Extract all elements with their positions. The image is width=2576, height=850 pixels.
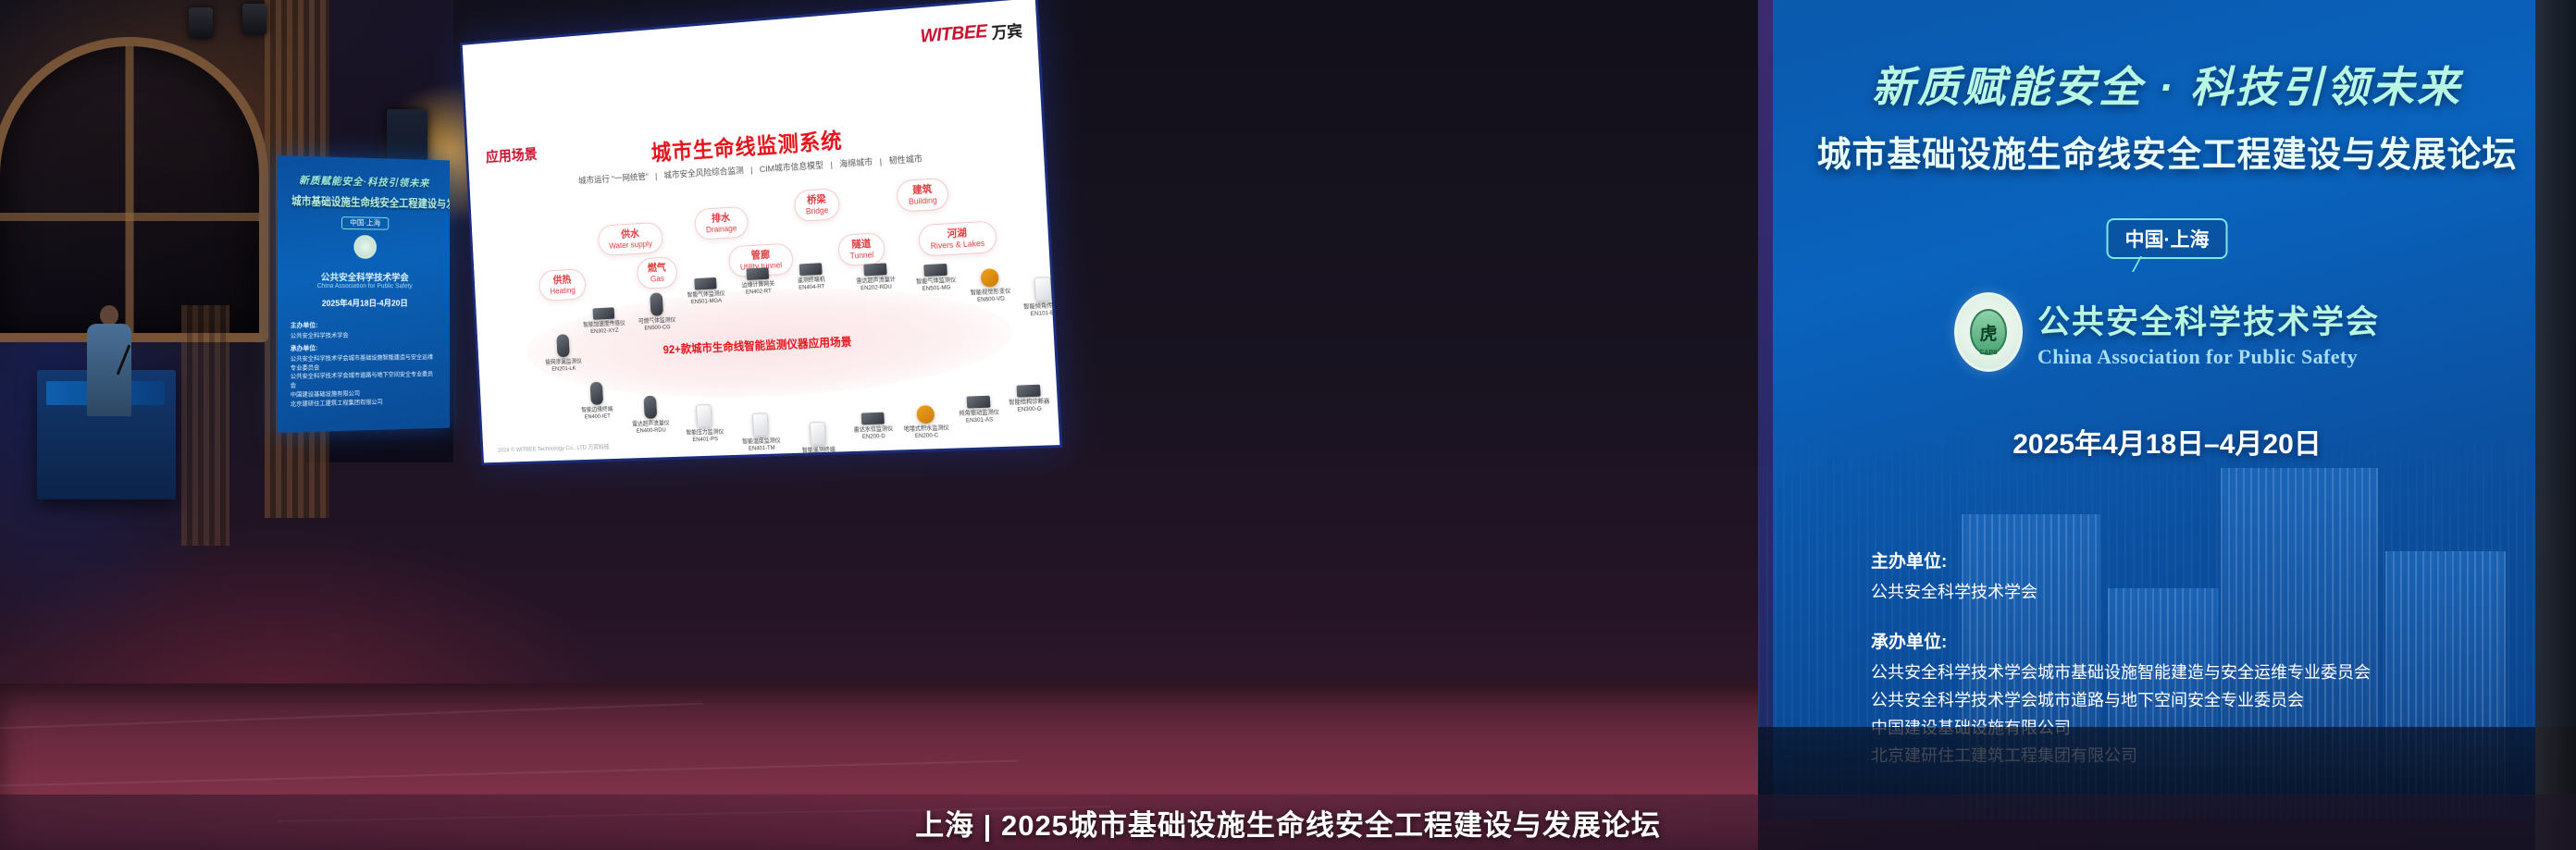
device-icon [1034, 277, 1052, 302]
banner-association-text: 公共安全科学技术学会 China Association for Public … [2037, 296, 2380, 369]
left-banner-host-item: 公共安全科学技术学会 [291, 330, 438, 340]
presenter-body [87, 324, 131, 416]
banner-organizer-label: 承办单位: [1871, 628, 2371, 653]
device-icon [592, 307, 614, 319]
right-led-banner: 新质赋能安全 · 科技引领未来 城市基础设施生命线安全工程建设与发展论坛 中国·… [1758, 0, 2576, 819]
device-icon [746, 267, 769, 280]
device-icon [694, 277, 716, 290]
wall-drape-secondary [181, 305, 229, 546]
banner-organizer-item: 公共安全科学技术学会城市道路与地下空间安全专业委员会 [1871, 688, 2371, 714]
subtitle-part: 城市安全风险综合监测 [663, 166, 744, 180]
banner-date: 2025年4月18日–4月20日 [1758, 421, 2576, 462]
slide-copyright: 2024 © WITBEE Technology Co., LTD 万宾科技 [498, 441, 610, 453]
left-banner-association-en: China Association for Public Safety [285, 283, 443, 289]
caption-bar: 上海 | 2025城市基础设施生命线安全工程建设与发展论坛 [0, 795, 2576, 850]
device-item: 遥测终端机EN404-RT [777, 262, 846, 293]
left-banner-location-chip: 中国·上海 [341, 216, 389, 230]
subtitle-separator: | [830, 160, 833, 170]
category-bubble: 排水Drainage [694, 206, 749, 240]
banner-title: 城市基础设施生命线安全工程建设与发展论坛 [1770, 126, 2563, 177]
seal-inner-glyph: 虎 [1970, 309, 2007, 355]
category-bubble: 桥梁Bridge [794, 188, 840, 222]
category-bubble-cn: 桥梁 [805, 194, 828, 207]
truss-light [189, 7, 213, 39]
banner-location-chip: 中国·上海 [2107, 218, 2228, 259]
device-item: 智能倾角传感器EN101-BS [1007, 276, 1059, 320]
device-icon [589, 382, 603, 405]
banner-organizer-item: 公共安全科学技术学会城市基础设施智能建造与安全运维专业委员会 [1871, 660, 2371, 686]
device-code: EN301-AS [945, 416, 1015, 426]
device-icon [810, 422, 826, 446]
subtitle-separator: | [750, 166, 753, 176]
category-bubble-cn: 燃气 [648, 263, 666, 275]
right-wall [2535, 0, 2576, 850]
banner-host-item: 公共安全科学技术学会 [1871, 580, 2371, 606]
device-icon [799, 263, 823, 276]
witbee-logo-cn: 万宾 [991, 18, 1023, 43]
category-bubble: 燃气Gas [637, 256, 678, 289]
device-item: 智能结构监测仪EN303-HS [1043, 371, 1059, 402]
slide-content: WITBEE 万宾 应用场景 城市生命线监测系统 城市运行 “一网统管”|城市安… [463, 0, 1060, 462]
device-icon [752, 413, 769, 437]
subtitle-part: 城市运行 “一网统管” [578, 172, 649, 186]
device-name: 智能结构监测仪 [1044, 385, 1059, 395]
screen-frame: WITBEE 万宾 应用场景 城市生命线监测系统 城市运行 “一网统管”|城市安… [460, 0, 1063, 465]
subtitle-part: CIM城市信息模型 [760, 161, 824, 175]
projection-screen: WITBEE 万宾 应用场景 城市生命线监测系统 城市运行 “一网统管”|城市安… [460, 0, 1063, 465]
left-banner-association-cn: 公共安全科学技术学会 [285, 269, 443, 283]
arched-window [0, 37, 268, 342]
left-banner-organizers: 主办单位: 公共安全科学技术学会 承办单位: 公共安全科学技术学会城市基础设施智… [285, 321, 443, 409]
device-item: 管网渗漏监测仪EN201-LK [530, 333, 596, 375]
category-bubble-en: Bridge [806, 205, 829, 216]
presenter-head [100, 305, 118, 326]
seal-abbr: CAPS [1957, 350, 2020, 356]
device-icon [861, 413, 885, 425]
subtitle-part: 韧性城市 [888, 154, 923, 166]
left-banner-date: 2025年4月18日-4月20日 [285, 297, 443, 309]
device-icon [696, 404, 712, 428]
category-bubble-en: Water supply [609, 239, 652, 250]
category-bubble: 河湖Rivers & Lakes [918, 220, 997, 256]
witbee-logo-en: WITBEE [920, 21, 987, 47]
device-code: EN200-C [892, 432, 961, 441]
device-icon [916, 405, 935, 424]
device-icon [650, 292, 663, 315]
category-bubble-en: Rivers & Lakes [930, 239, 985, 251]
subtitle-separator: | [879, 157, 882, 167]
witbee-logo: WITBEE 万宾 [920, 18, 1023, 48]
banner-host-label: 主办单位: [1871, 548, 2371, 573]
device-icon [923, 264, 947, 277]
category-bubble-en: Gas [648, 274, 666, 284]
caption-text: 上海 | 2025城市基础设施生命线安全工程建设与发展论坛 [915, 802, 1661, 844]
category-bubble: 供水Water supply [598, 222, 664, 256]
category-bubble-en: Drainage [706, 223, 737, 234]
presenter-person [85, 305, 133, 416]
device-icon [1016, 385, 1040, 398]
device-name: 智能遥测终端 [785, 446, 852, 455]
subtitle-separator: | [655, 172, 658, 182]
subtitle-part: 海绵城市 [839, 157, 873, 169]
device-icon [863, 263, 886, 276]
device-icon [967, 396, 991, 409]
banner-association-en: China Association for Public Safety [2037, 345, 2380, 369]
left-banner-title: 城市基础设施生命线安全工程建设与发展论坛 [291, 192, 437, 211]
category-bubble-cn: 供热 [550, 275, 576, 287]
device-icon [556, 334, 569, 357]
category-bubble: 供热Heating [539, 268, 587, 302]
banner-calligraphy: 新质赋能安全 · 科技引领未来 [1758, 54, 2576, 115]
left-led-banner: 新质赋能安全·科技引领未来 城市基础设施生命线安全工程建设与发展论坛 中国·上海… [278, 155, 450, 433]
banner-association-cn: 公共安全科学技术学会 [2037, 296, 2380, 343]
truss-light [242, 4, 266, 35]
category-bubble: 隧道Tunnel [837, 232, 885, 266]
device-icon [980, 268, 999, 288]
device-code: EN300-G [994, 405, 1059, 415]
conference-photo-screenshot: 中国·上海 新质赋能安全·科技引领未来 城市基础设施生命线安全工程建设与发展论坛… [0, 0, 2576, 850]
category-bubble: 建筑Building [896, 178, 948, 213]
left-banner-calligraphy: 新质赋能安全·科技引领未来 [285, 172, 443, 191]
banner-association: 虎 CAPS 公共安全科学技术学会 China Association for … [1758, 292, 2576, 372]
category-bubble-en: Building [909, 195, 937, 206]
caps-seal-icon: 虎 CAPS [1954, 292, 2023, 372]
device-icon [643, 396, 657, 419]
category-bubble-en: Tunnel [849, 250, 873, 260]
category-bubble-cn: 隧道 [849, 239, 873, 252]
category-bubble-en: Heating [550, 285, 576, 295]
left-banner-seal-icon [353, 235, 377, 259]
